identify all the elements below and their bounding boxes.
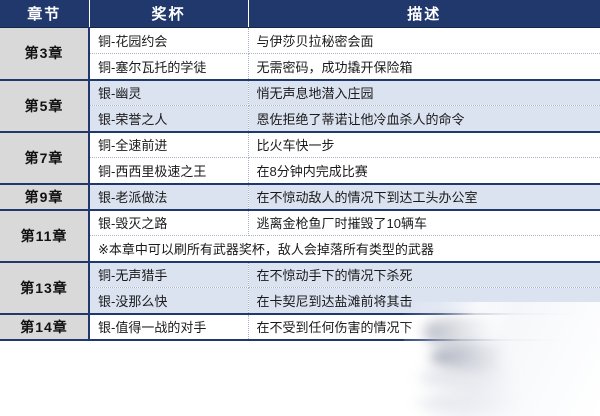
trophy-name-cell: 铜-西西里极速之王 bbox=[89, 158, 248, 184]
table-row: 铜-塞尔瓦托的学徒无需密码，成功撬开保险箱 bbox=[0, 54, 600, 80]
table-row: 银-荣誉之人恩佐拒绝了蒂诺让他冷血杀人的命令 bbox=[0, 106, 600, 132]
trophy-description-cell: 在不受到任何伤害的情况下 bbox=[248, 314, 600, 340]
chapter-cell: 第9章 bbox=[0, 184, 89, 210]
blur-smudge-icon bbox=[418, 392, 568, 414]
chapter-cell: 第14章 bbox=[0, 314, 89, 340]
column-header-description: 描述 bbox=[248, 0, 600, 28]
chapter-cell: 第7章 bbox=[0, 132, 89, 184]
table-row: 第13章铜-无声猎手在不惊动手下的情况下杀死 bbox=[0, 262, 600, 288]
table-row: 第14章银-值得一战的对手在不受到任何伤害的情况下 bbox=[0, 314, 600, 340]
trophy-name-cell: 铜-花园约会 bbox=[89, 28, 248, 54]
trophy-description-cell: 在8分钟内完成比赛 bbox=[248, 158, 600, 184]
table-row: 第5章银-幽灵悄无声息地潜入庄园 bbox=[0, 80, 600, 106]
table-row: ※本章中可以刷所有武器奖杯，敌人会掉落所有类型的武器 bbox=[0, 236, 600, 262]
chapter-cell: 第11章 bbox=[0, 210, 89, 262]
blur-smudge-icon bbox=[420, 366, 560, 390]
table-row: 第9章银-老派做法在不惊动敌人的情况下到达工头办公室 bbox=[0, 184, 600, 210]
chapter-cell: 第5章 bbox=[0, 80, 89, 132]
table-row: 银-没那么快在卡契尼到达盐滩前将其击 bbox=[0, 288, 600, 314]
trophy-description-cell: 无需密码，成功撬开保险箱 bbox=[248, 54, 600, 80]
trophy-name-cell: 铜-全速前进 bbox=[89, 132, 248, 158]
trophy-description-cell: 悄无声息地潜入庄园 bbox=[248, 80, 600, 106]
trophy-description-cell: 在不惊动手下的情况下杀死 bbox=[248, 262, 600, 288]
trophy-name-cell: 银-幽灵 bbox=[89, 80, 248, 106]
trophy-description-cell: 比火车快一步 bbox=[248, 132, 600, 158]
table-header: 章节 奖杯 描述 bbox=[0, 0, 600, 28]
trophy-name-cell: 银-值得一战的对手 bbox=[89, 314, 248, 340]
trophy-description-cell: 恩佐拒绝了蒂诺让他冷血杀人的命令 bbox=[248, 106, 600, 132]
column-header-chapter: 章节 bbox=[0, 0, 89, 28]
trophy-table-container: 章节 奖杯 描述 第3章铜-花园约会与伊莎贝拉秘密会面铜-塞尔瓦托的学徒无需密码… bbox=[0, 0, 600, 416]
chapter-cell: 第13章 bbox=[0, 262, 89, 314]
trophy-description-cell: 与伊莎贝拉秘密会面 bbox=[248, 28, 600, 54]
table-row: 第11章银-毁灭之路逃离金枪鱼厂时摧毁了10辆车 bbox=[0, 210, 600, 236]
table-row: 第7章铜-全速前进比火车快一步 bbox=[0, 132, 600, 158]
trophy-name-cell: 银-毁灭之路 bbox=[89, 210, 248, 236]
column-header-trophy: 奖杯 bbox=[89, 0, 248, 28]
table-row: 第3章铜-花园约会与伊莎贝拉秘密会面 bbox=[0, 28, 600, 54]
chapter-note-cell: ※本章中可以刷所有武器奖杯，敌人会掉落所有类型的武器 bbox=[89, 236, 600, 262]
trophy-name-cell: 银-荣誉之人 bbox=[89, 106, 248, 132]
trophy-description-cell: 在不惊动敌人的情况下到达工头办公室 bbox=[248, 184, 600, 210]
trophy-description-cell: 逃离金枪鱼厂时摧毁了10辆车 bbox=[248, 210, 600, 236]
trophy-name-cell: 铜-塞尔瓦托的学徒 bbox=[89, 54, 248, 80]
trophy-name-cell: 银-没那么快 bbox=[89, 288, 248, 314]
table-row: 铜-西西里极速之王在8分钟内完成比赛 bbox=[0, 158, 600, 184]
trophy-name-cell: 铜-无声猎手 bbox=[89, 262, 248, 288]
trophy-name-cell: 银-老派做法 bbox=[89, 184, 248, 210]
trophy-table: 章节 奖杯 描述 第3章铜-花园约会与伊莎贝拉秘密会面铜-塞尔瓦托的学徒无需密码… bbox=[0, 0, 600, 341]
blur-smudge-icon bbox=[430, 344, 540, 370]
trophy-description-cell: 在卡契尼到达盐滩前将其击 bbox=[248, 288, 600, 314]
chapter-cell: 第3章 bbox=[0, 28, 89, 80]
table-body: 第3章铜-花园约会与伊莎贝拉秘密会面铜-塞尔瓦托的学徒无需密码，成功撬开保险箱第… bbox=[0, 28, 600, 340]
header-row: 章节 奖杯 描述 bbox=[0, 0, 600, 28]
